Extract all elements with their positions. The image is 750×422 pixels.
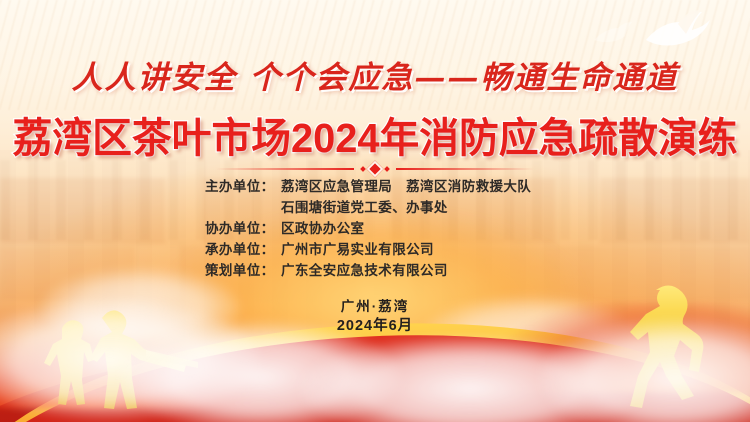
organizer-value: 广州市广易实业有限公司 (281, 239, 545, 260)
organizer-row: 策划单位： 广东全安应急技术有限公司 (205, 260, 545, 281)
organizer-label: 策划单位： (205, 260, 281, 281)
event-location: 广州·荔湾 (0, 297, 750, 316)
organizer-row: 协办单位： 区政协办公室 (205, 218, 545, 239)
organizer-row: 主办单位： 荔湾区应急管理局 荔湾区消防救援大队 (205, 176, 545, 197)
diamond-small-left (360, 166, 366, 172)
organizer-value: 区政协办公室 (281, 218, 545, 239)
diamond-ornament-icon (354, 163, 396, 175)
organizer-row: 承办单位： 广州市广易实业有限公司 (205, 239, 545, 260)
divider-line-left (216, 168, 354, 170)
organizer-row-continuation: 主办单位： 石围塘街道党工委、办事处 (205, 197, 545, 218)
divider-line-right (396, 168, 534, 170)
organizer-value: 荔湾区应急管理局 荔湾区消防救援大队 (281, 176, 545, 197)
organizer-value: 广东全安应急技术有限公司 (281, 260, 545, 281)
dove-icon-small (592, 22, 632, 48)
organizer-label: 承办单位： (205, 239, 281, 260)
organizer-value: 石围塘街道党工委、办事处 (281, 197, 545, 218)
event-poster: 人人讲安全 个个会应急——畅通生命通道 荔湾区茶叶市场2024年消防应急疏散演练… (0, 0, 750, 422)
event-date: 2024年6月 (0, 316, 750, 337)
page-title: 荔湾区茶叶市场2024年消防应急疏散演练 (11, 104, 739, 164)
diamond-center (367, 161, 384, 178)
dove-icon (640, 10, 710, 56)
organizer-label: 协办单位： (205, 218, 281, 239)
page-title-text: 荔湾区茶叶市场2024年消防应急疏散演练 (13, 104, 738, 164)
poster-slogan: 人人讲安全 个个会应急——畅通生命通道 (0, 52, 750, 97)
organizer-label: 主办单位： (205, 176, 281, 197)
poster-footer: 广州·荔湾 2024年6月 (0, 297, 750, 337)
organizer-list: 主办单位： 荔湾区应急管理局 荔湾区消防救援大队 主办单位： 石围塘街道党工委、… (0, 176, 750, 281)
diamond-small-right (384, 166, 390, 172)
